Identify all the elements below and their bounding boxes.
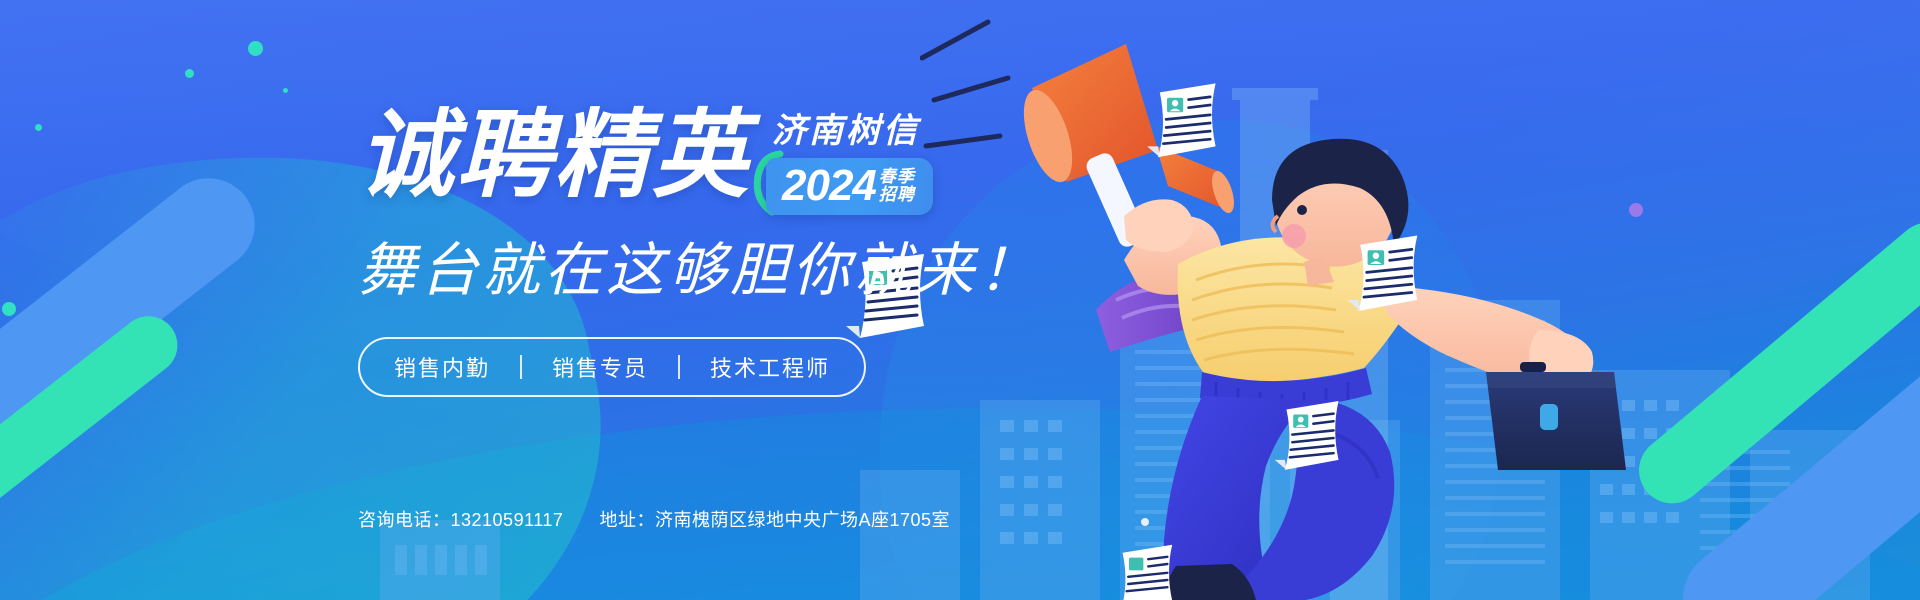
eye [1297,205,1307,215]
badge-year: 2024 [782,164,876,208]
job-tags-pill: 销售内勤 销售专员 技术工程师 [358,337,866,397]
contact-row: 咨询电话：13210591117 地址：济南槐荫区绿地中央广场A座1705室 [358,506,950,532]
brand-name: 济南树信 [772,114,933,148]
decor-dot-teal-4 [35,124,42,131]
banner-content: 诚聘精英 济南树信 2024 春季 招聘 舞台就在 [358,108,1058,397]
decor-dot-teal-2 [185,69,194,78]
contact-phone[interactable]: 咨询电话：13210591117 [358,506,563,532]
recruitment-badge: 2024 春季 招聘 [766,158,933,215]
subtitle: 舞台就在这够胆你就来！ [358,239,1058,303]
brand-block: 济南树信 2024 春季 招聘 [766,108,933,215]
page-title: 诚聘精英 [358,108,750,204]
headline-row: 诚聘精英 济南树信 2024 春季 招聘 [358,108,1058,215]
recruitment-banner: 诚聘精英 济南树信 2024 春季 招聘 舞台就在 [0,0,1920,600]
decor-dot-teal-3 [283,88,288,93]
cheek-blush [1282,224,1306,248]
job-tag-technical-engineer[interactable]: 技术工程师 [710,351,830,383]
briefcase-icon [1486,362,1626,470]
decor-dot-teal-1 [248,41,263,56]
tag-divider-1 [520,355,522,379]
contact-address: 地址：济南槐荫区绿地中央广场A座1705室 [599,506,950,532]
badge-body: 2024 春季 招聘 [766,158,933,215]
decor-dot-teal-5 [2,302,16,316]
tag-divider-2 [678,355,680,379]
resume-paper-icon-5 [1105,540,1185,600]
job-tag-sales-specialist[interactable]: 销售专员 [552,351,648,383]
badge-season-line-2: 招聘 [879,186,915,204]
badge-season-line-1: 春季 [879,168,915,186]
resume-paper-icon-4 [1268,396,1352,480]
resume-paper-icon-1 [1140,78,1230,168]
job-tag-sales-support[interactable]: 销售内勤 [394,351,490,383]
resume-paper-icon-3 [1340,230,1432,322]
badge-season: 春季 招聘 [879,168,915,204]
